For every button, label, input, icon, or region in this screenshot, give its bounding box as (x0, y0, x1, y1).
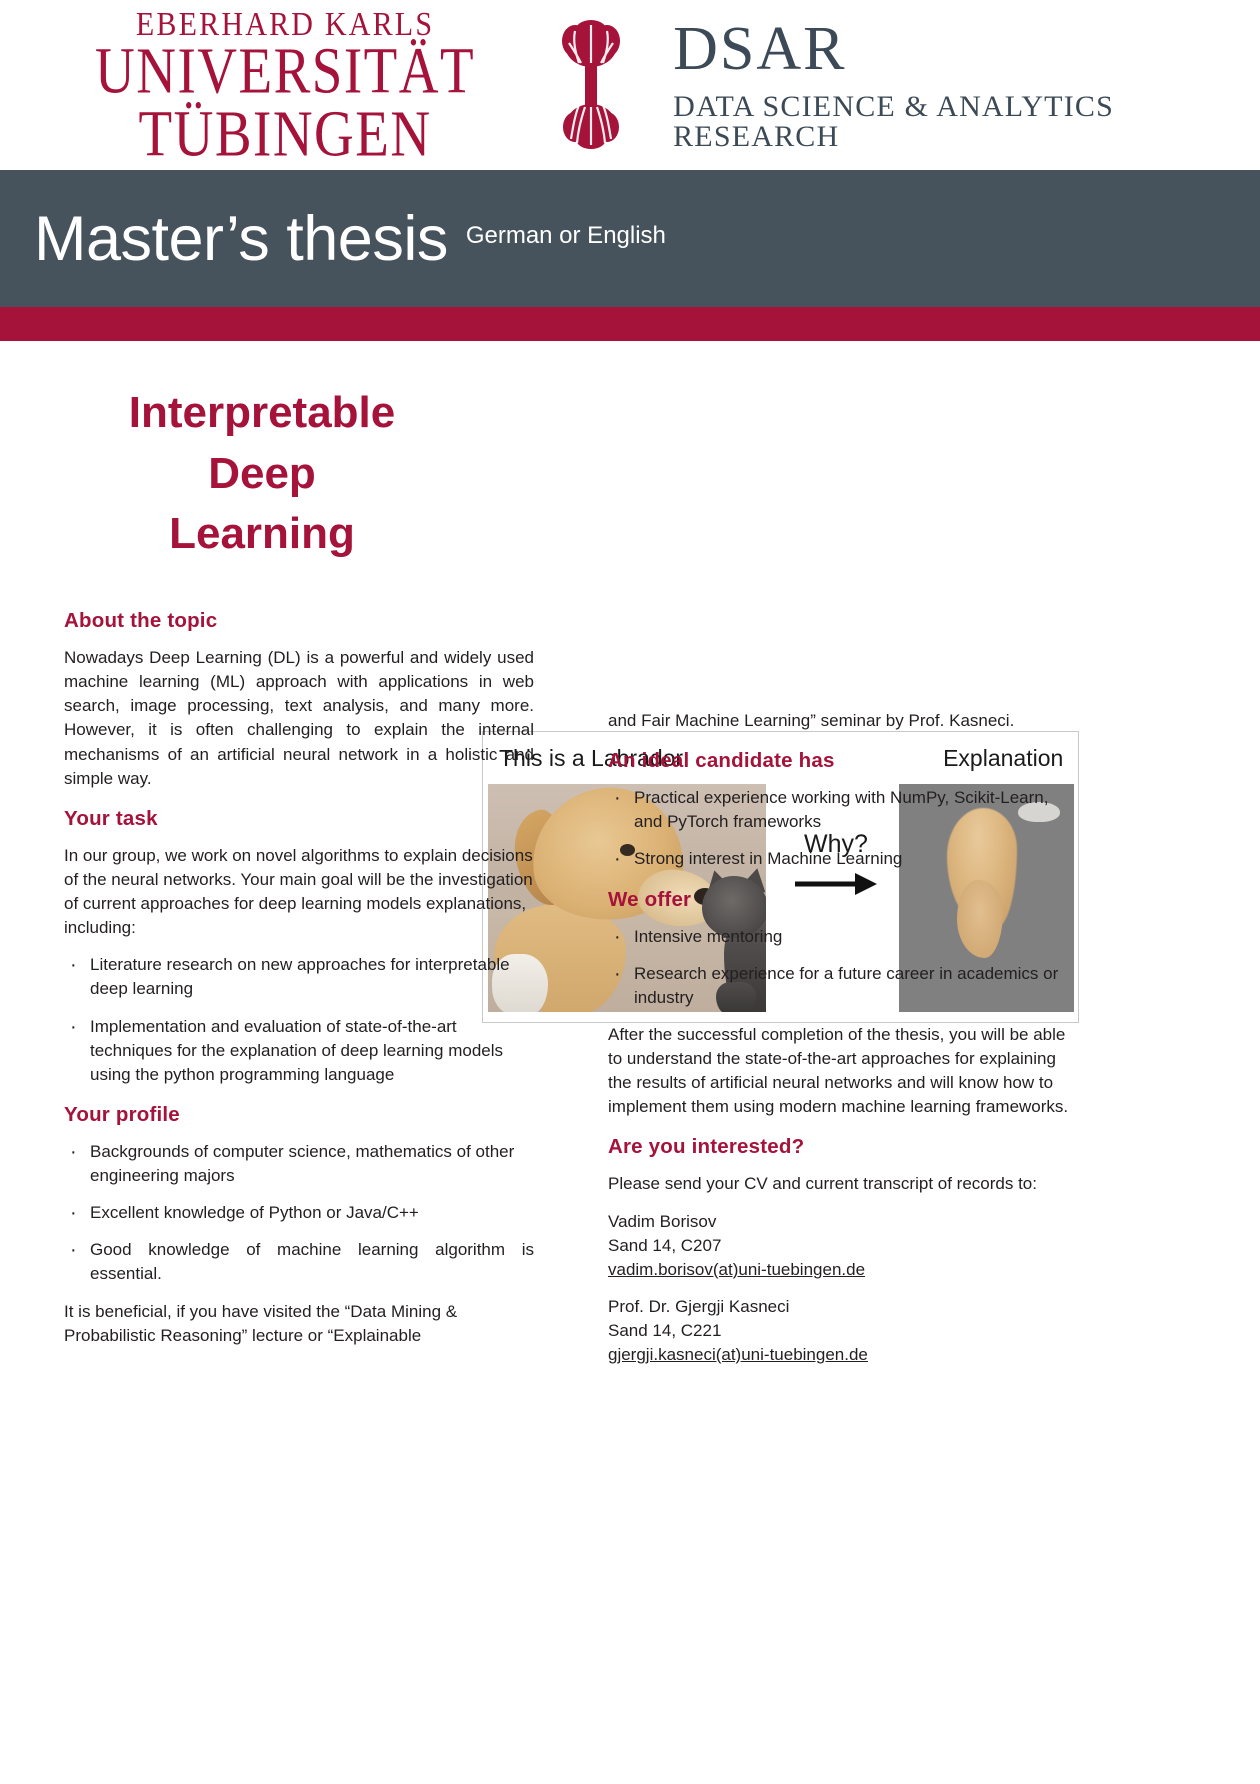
logo-band: EBERHARD KARLS UNIVERSITÄT TÜBINGEN (0, 0, 1260, 170)
red-divider-rule (0, 307, 1260, 341)
candidate-bullet-list: Practical experience working with NumPy,… (608, 786, 1078, 871)
contact-address: Sand 14, C221 (608, 1319, 1078, 1343)
contact-email-link[interactable]: vadim.borisov(at)uni-tuebingen.de (608, 1258, 865, 1282)
task-bullet-list: Literature research on new approaches fo… (64, 953, 534, 1087)
continuation-paragraph: and Fair Machine Learning” seminar by Pr… (608, 709, 1078, 733)
interested-paragraph: Please send your CV and current transcri… (608, 1172, 1078, 1196)
tuebingen-tree-icon (545, 19, 637, 151)
offer-paragraph: After the successful completion of the t… (608, 1023, 1078, 1120)
section-heading-your-task: Your task (64, 807, 534, 831)
right-column: and Fair Machine Learning” seminar by Pr… (608, 709, 1078, 1380)
university-logo: EBERHARD KARLS UNIVERSITÄT TÜBINGEN (95, 10, 475, 161)
page-subtitle: German or English (466, 222, 666, 256)
section-heading-ideal-candidate: An ideal candidate has (608, 749, 1078, 773)
title-bar: Master’s thesis German or English (0, 170, 1260, 307)
contact-name: Prof. Dr. Gjergji Kasneci (608, 1295, 1078, 1319)
dsar-expansion: DATA SCIENCE & ANALYTICS RESEARCH (673, 92, 1260, 152)
section-heading-are-you-interested: Are you interested? (608, 1135, 1078, 1159)
topic-heading-line3: Learning (62, 504, 462, 565)
topic-heading: Interpretable Deep Learning (62, 383, 462, 565)
left-column: About the topic Nowadays Deep Learning (… (64, 609, 534, 1361)
contact-name: Vadim Borisov (608, 1210, 1078, 1234)
profile-closing-paragraph: It is beneficial, if you have visited th… (64, 1300, 534, 1348)
dsar-acronym: DSAR (673, 18, 1260, 80)
list-item: Practical experience working with NumPy,… (608, 786, 1078, 834)
university-logo-line3: TÜBINGEN (139, 100, 432, 166)
list-item: Implementation and evaluation of state-o… (64, 1015, 534, 1087)
contact-address: Sand 14, C207 (608, 1234, 1078, 1258)
contact-block-1: Vadim Borisov Sand 14, C207 vadim.boriso… (608, 1210, 1078, 1282)
topic-heading-line1: Interpretable (62, 383, 462, 444)
about-paragraph: Nowadays Deep Learning (DL) is a powerfu… (64, 646, 534, 791)
task-paragraph: In our group, we work on novel algorithm… (64, 844, 534, 941)
dsar-logo: DSAR DATA SCIENCE & ANALYTICS RESEARCH (673, 18, 1260, 152)
list-item: Strong interest in Machine Learning (608, 847, 1078, 871)
list-item: Research experience for a future career … (608, 962, 1078, 1010)
page-title: Master’s thesis (34, 203, 448, 275)
section-heading-your-profile: Your profile (64, 1103, 534, 1127)
list-item: Intensive mentoring (608, 925, 1078, 949)
list-item: Backgrounds of computer science, mathema… (64, 1140, 534, 1188)
university-logo-line2: UNIVERSITÄT (95, 37, 475, 103)
profile-bullet-list: Backgrounds of computer science, mathema… (64, 1140, 534, 1287)
list-item: Good knowledge of machine learning algor… (64, 1238, 534, 1286)
section-heading-we-offer: We offer (608, 888, 1078, 912)
list-item: Excellent knowledge of Python or Java/C+… (64, 1201, 534, 1225)
offer-bullet-list: Intensive mentoring Research experience … (608, 925, 1078, 1010)
list-item: Literature research on new approaches fo… (64, 953, 534, 1001)
section-heading-about: About the topic (64, 609, 534, 633)
topic-heading-line2: Deep (62, 444, 462, 505)
contact-email-link[interactable]: gjergji.kasneci(at)uni-tuebingen.de (608, 1343, 868, 1367)
contact-block-2: Prof. Dr. Gjergji Kasneci Sand 14, C221 … (608, 1295, 1078, 1367)
